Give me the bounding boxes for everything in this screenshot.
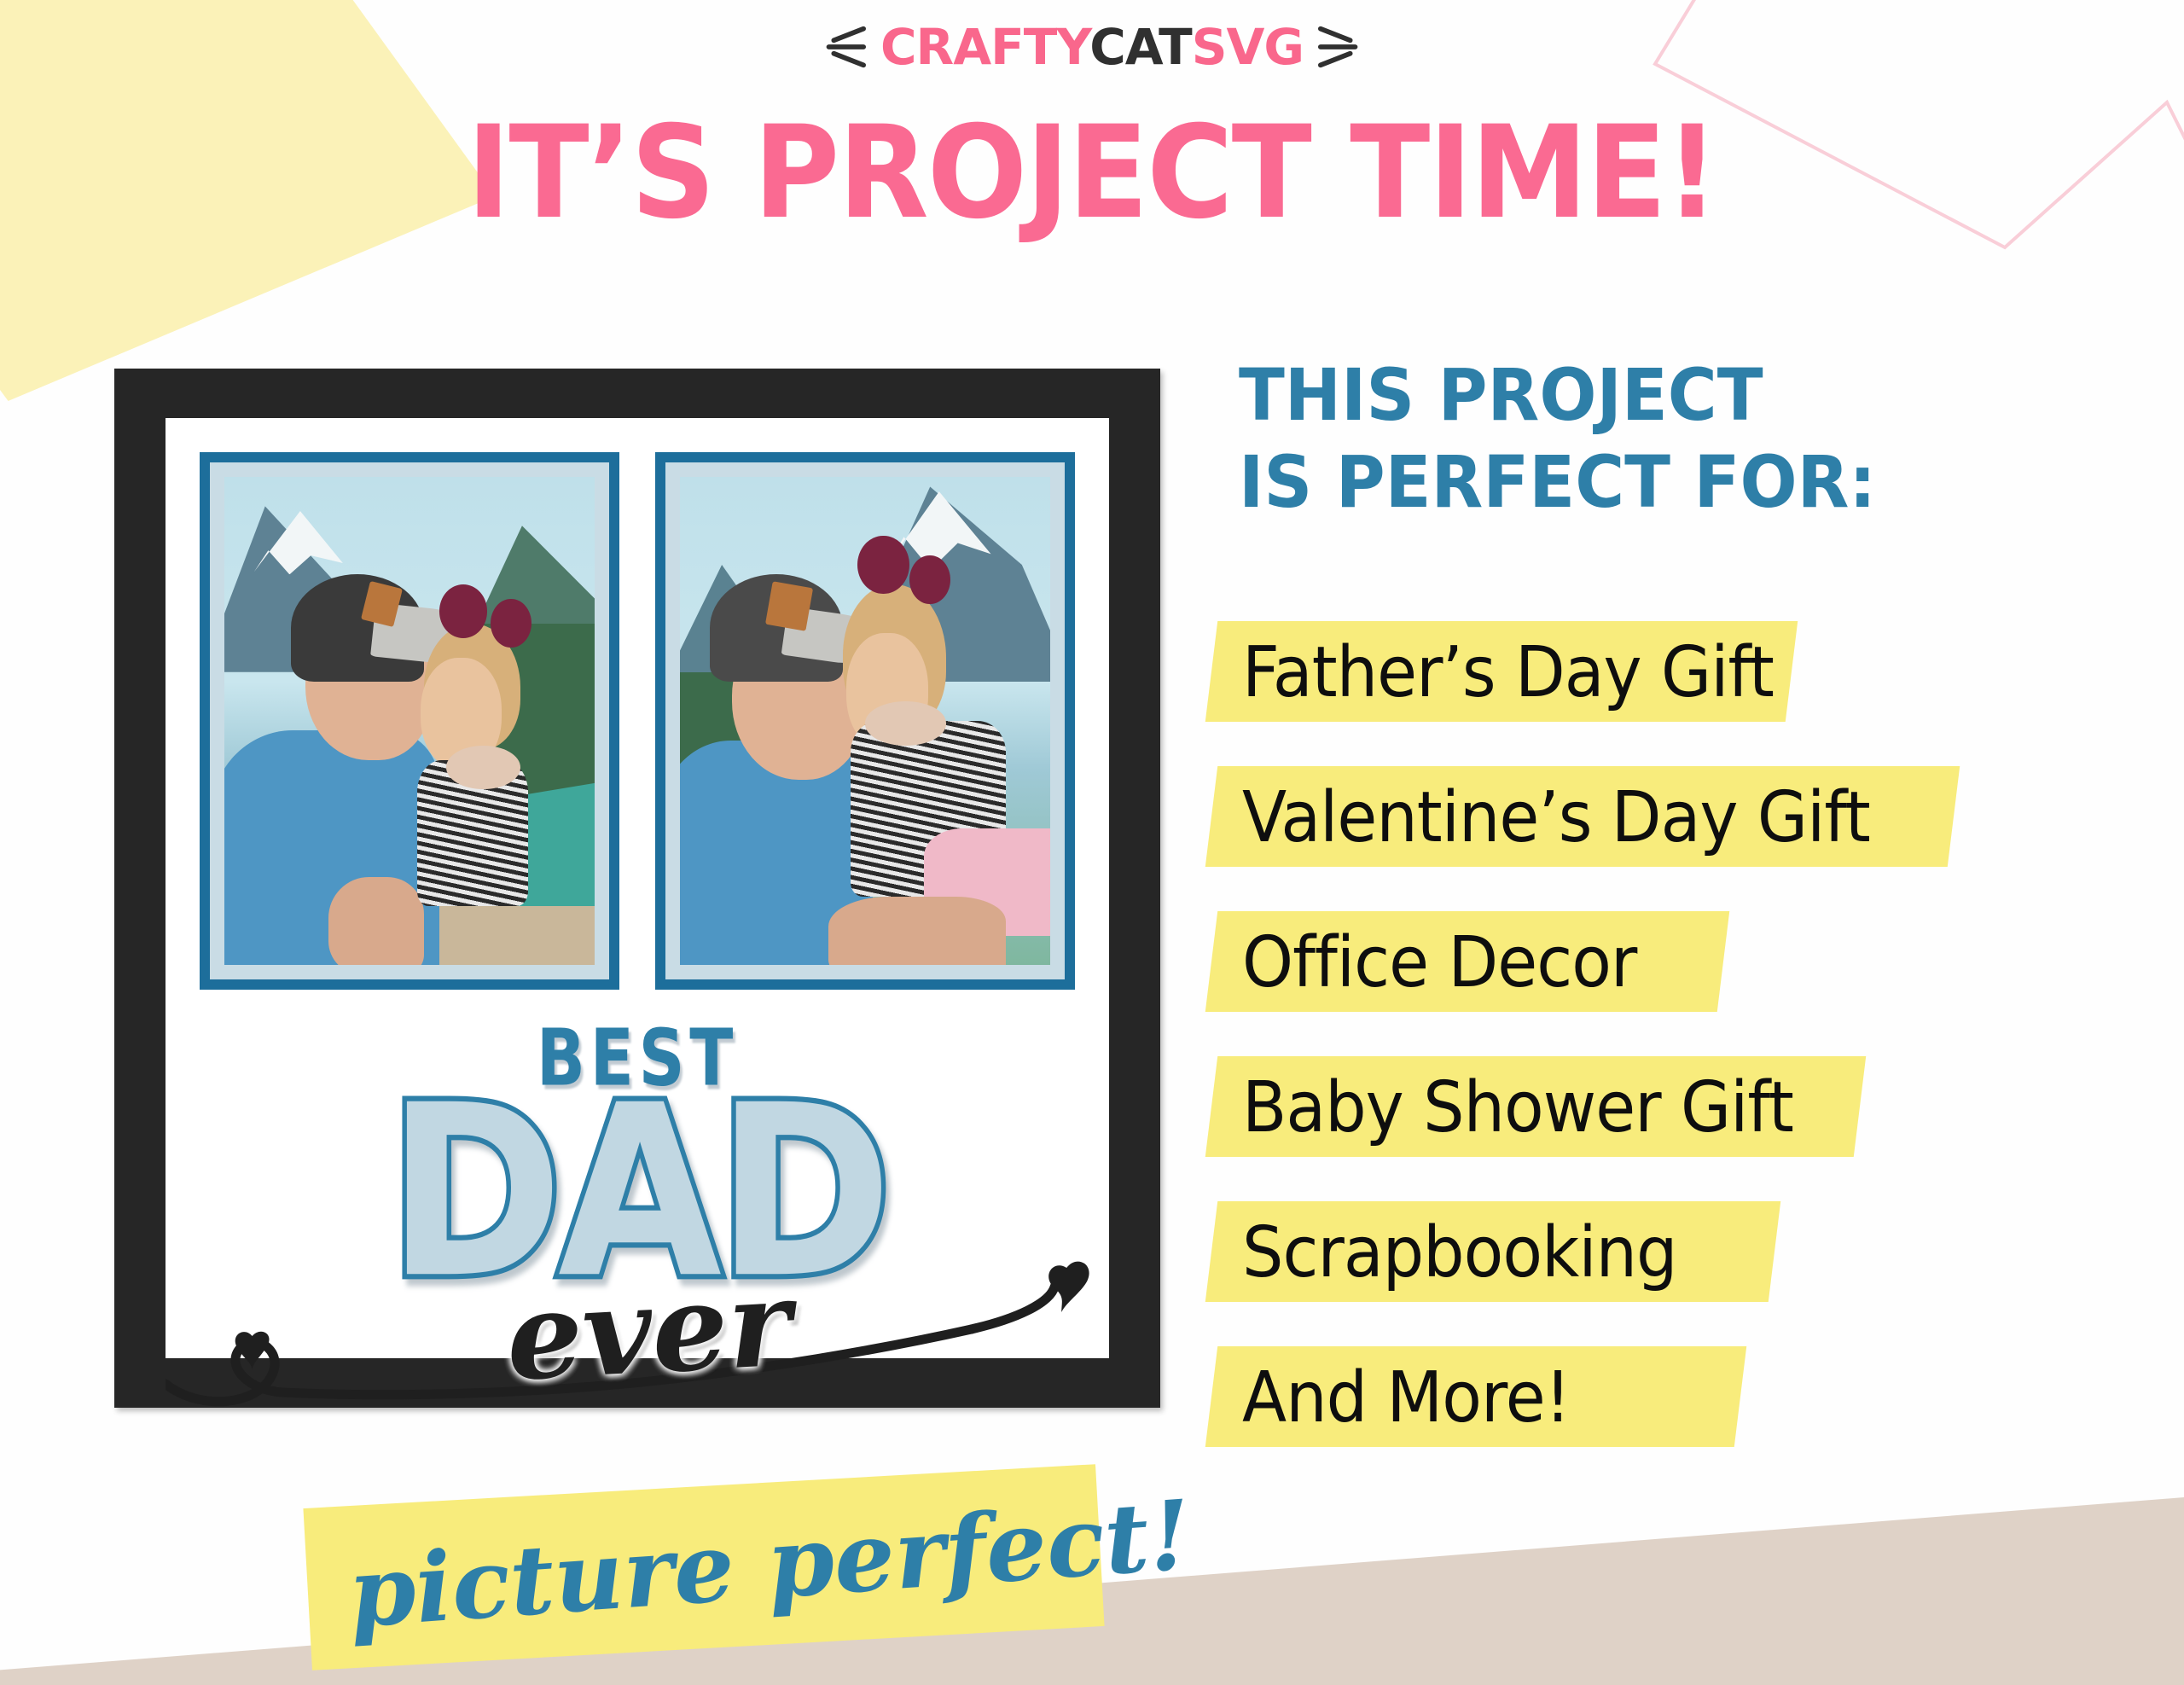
- best-dad-ever-lockup: BEST DAD ever: [166, 1026, 1109, 1418]
- photo-mat-right: [665, 462, 1065, 979]
- artwork-mat: BEST DAD ever: [166, 418, 1109, 1358]
- perfect-for-heading-line2: IS PERFECT FOR:: [1239, 439, 2008, 526]
- artwork-title-ever: ever: [503, 1264, 793, 1397]
- photo-mat-left: [210, 462, 609, 979]
- brand-logo: CRAFTYCATSVG: [0, 22, 2184, 72]
- list-item: And More!: [1211, 1339, 2133, 1485]
- brand-name-part3: SVG: [1192, 18, 1304, 76]
- photo-dad-laughing-with-daughter: [680, 477, 1050, 965]
- perfect-for-heading: THIS PROJECT IS PERFECT FOR:: [1239, 352, 2008, 526]
- use-case-label: Office Decor: [1242, 918, 1636, 1007]
- use-case-label: And More!: [1242, 1353, 1570, 1442]
- picture-perfect-callout: picture perfect!: [307, 1486, 1101, 1648]
- picture-perfect-text: picture perfect!: [344, 1462, 1104, 1673]
- artwork-frame: BEST DAD ever: [114, 369, 1160, 1408]
- photo-row: [200, 452, 1075, 990]
- perfect-for-heading-line1: THIS PROJECT: [1239, 352, 2008, 439]
- sunburst-lines-icon: [1317, 22, 1367, 72]
- brand-name-part1: CRAFTY: [880, 18, 1089, 76]
- photo-card-left: [200, 452, 619, 990]
- list-item: Scrapbooking: [1211, 1194, 2133, 1339]
- use-case-list: Father’s Day Gift Valentine’s Day Gift O…: [1211, 614, 2133, 1485]
- page-headline: IT’S PROJECT TIME!: [87, 109, 2096, 237]
- list-item: Valentine’s Day Gift: [1211, 759, 2133, 904]
- use-case-label: Father’s Day Gift: [1242, 628, 1774, 717]
- photo-dad-kissing-daughter: [224, 477, 595, 965]
- use-case-label: Baby Shower Gift: [1242, 1063, 1793, 1152]
- brand-name-part2: CAT: [1089, 18, 1192, 76]
- use-case-label: Valentine’s Day Gift: [1242, 773, 1870, 862]
- list-item: Baby Shower Gift: [1211, 1049, 2133, 1194]
- list-item: Father’s Day Gift: [1211, 614, 2133, 759]
- use-case-label: Scrapbooking: [1242, 1208, 1676, 1297]
- list-item: Office Decor: [1211, 904, 2133, 1049]
- sunburst-lines-icon: [817, 22, 867, 72]
- brand-wordmark: CRAFTYCATSVG: [880, 22, 1304, 72]
- photo-card-right: [655, 452, 1075, 990]
